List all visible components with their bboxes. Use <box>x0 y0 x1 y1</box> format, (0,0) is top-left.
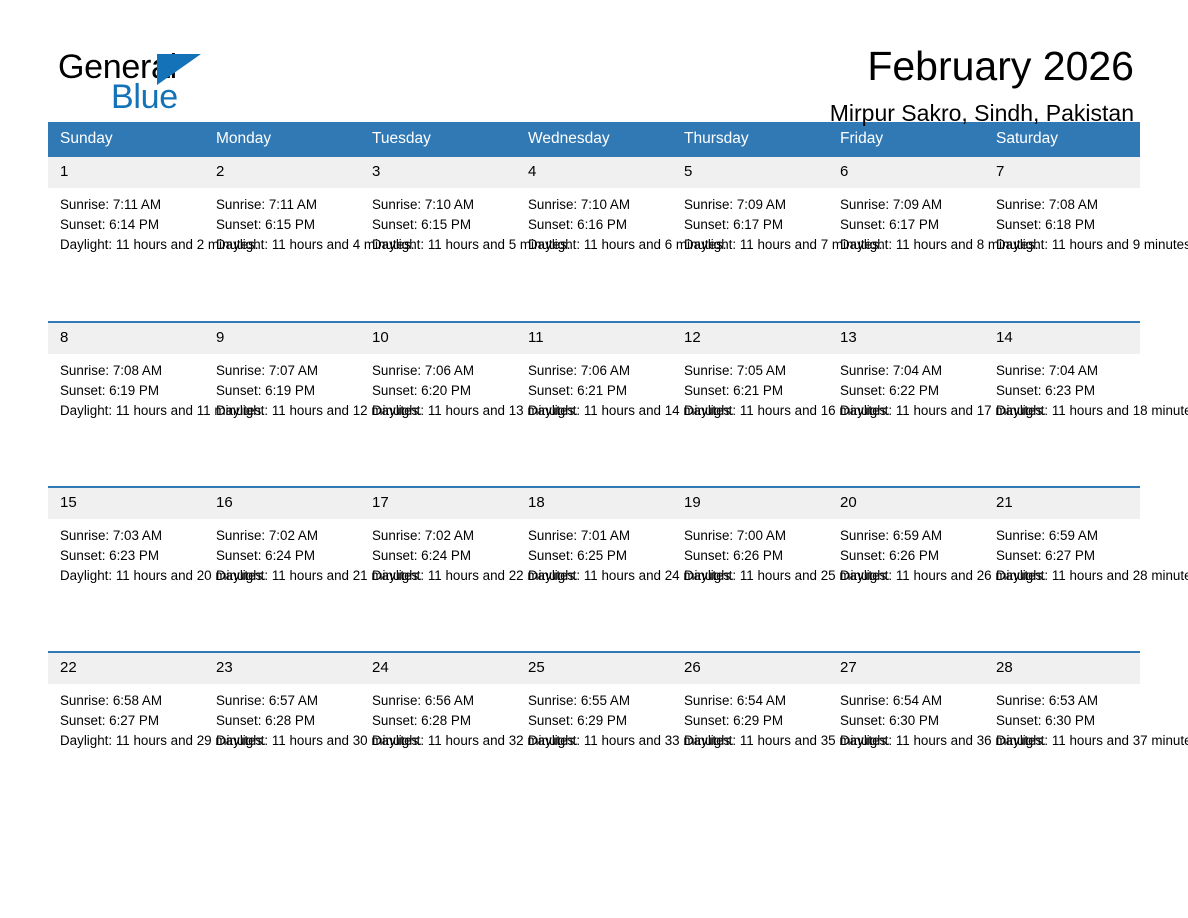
daylight-text: Daylight: 11 hours and 18 minutes. <box>996 401 1130 421</box>
sunrise-text: Sunrise: 7:05 AM <box>684 361 818 381</box>
day-cell[interactable]: 4Sunrise: 7:10 AMSunset: 6:16 PMDaylight… <box>516 157 672 322</box>
sunrise-text: Sunrise: 7:00 AM <box>684 526 818 546</box>
daylight-text: Daylight: 11 hours and 37 minutes. <box>996 731 1130 751</box>
day-number: 13 <box>828 323 984 354</box>
daylight-text: Daylight: 11 hours and 33 minutes. <box>528 731 662 751</box>
day-details: Sunrise: 7:11 AMSunset: 6:14 PMDaylight:… <box>48 188 204 256</box>
generalblue-logo[interactable]: General Blue <box>58 48 258 120</box>
sunrise-text: Sunrise: 7:07 AM <box>216 361 350 381</box>
sunrise-text: Sunrise: 6:58 AM <box>60 691 194 711</box>
day-cell[interactable]: 20Sunrise: 6:59 AMSunset: 6:26 PMDayligh… <box>828 487 984 652</box>
day-number: 18 <box>516 488 672 519</box>
daylight-text: Daylight: 11 hours and 21 minutes. <box>216 566 350 586</box>
sunrise-text: Sunrise: 7:10 AM <box>528 195 662 215</box>
day-details: Sunrise: 7:00 AMSunset: 6:26 PMDaylight:… <box>672 519 828 587</box>
sunset-text: Sunset: 6:27 PM <box>60 711 194 731</box>
daylight-text: Daylight: 11 hours and 22 minutes. <box>372 566 506 586</box>
day-number: 17 <box>360 488 516 519</box>
day-cell[interactable]: 15Sunrise: 7:03 AMSunset: 6:23 PMDayligh… <box>48 487 204 652</box>
sunset-text: Sunset: 6:23 PM <box>60 546 194 566</box>
sunset-text: Sunset: 6:14 PM <box>60 215 194 235</box>
sunset-text: Sunset: 6:16 PM <box>528 215 662 235</box>
sunrise-text: Sunrise: 6:54 AM <box>840 691 974 711</box>
sunset-text: Sunset: 6:15 PM <box>216 215 350 235</box>
sunrise-text: Sunrise: 7:08 AM <box>60 361 194 381</box>
day-cell[interactable]: 9Sunrise: 7:07 AMSunset: 6:19 PMDaylight… <box>204 322 360 487</box>
day-details: Sunrise: 7:04 AMSunset: 6:22 PMDaylight:… <box>828 354 984 422</box>
day-details: Sunrise: 7:01 AMSunset: 6:25 PMDaylight:… <box>516 519 672 587</box>
daylight-text: Daylight: 11 hours and 36 minutes. <box>840 731 974 751</box>
day-number: 14 <box>984 323 1140 354</box>
daylight-text: Daylight: 11 hours and 24 minutes. <box>528 566 662 586</box>
day-number: 8 <box>48 323 204 354</box>
sunset-text: Sunset: 6:30 PM <box>840 711 974 731</box>
daylight-text: Daylight: 11 hours and 29 minutes. <box>60 731 194 751</box>
day-details: Sunrise: 7:02 AMSunset: 6:24 PMDaylight:… <box>360 519 516 587</box>
daylight-text: Daylight: 11 hours and 8 minutes. <box>840 235 974 255</box>
sunrise-text: Sunrise: 7:02 AM <box>216 526 350 546</box>
sunrise-text: Sunrise: 7:08 AM <box>996 195 1130 215</box>
sunrise-text: Sunrise: 7:09 AM <box>840 195 974 215</box>
daylight-text: Daylight: 11 hours and 7 minutes. <box>684 235 818 255</box>
sunset-text: Sunset: 6:23 PM <box>996 381 1130 401</box>
day-cell[interactable]: 27Sunrise: 6:54 AMSunset: 6:30 PMDayligh… <box>828 652 984 817</box>
sunset-text: Sunset: 6:19 PM <box>216 381 350 401</box>
day-details: Sunrise: 6:54 AMSunset: 6:30 PMDaylight:… <box>828 684 984 752</box>
day-cell[interactable]: 24Sunrise: 6:56 AMSunset: 6:28 PMDayligh… <box>360 652 516 817</box>
sunrise-text: Sunrise: 7:01 AM <box>528 526 662 546</box>
calendar-week-row: 22Sunrise: 6:58 AMSunset: 6:27 PMDayligh… <box>48 652 1140 817</box>
sunset-text: Sunset: 6:21 PM <box>684 381 818 401</box>
day-details: Sunrise: 6:58 AMSunset: 6:27 PMDaylight:… <box>48 684 204 752</box>
sunrise-text: Sunrise: 6:53 AM <box>996 691 1130 711</box>
day-details: Sunrise: 6:59 AMSunset: 6:26 PMDaylight:… <box>828 519 984 587</box>
day-cell[interactable]: 13Sunrise: 7:04 AMSunset: 6:22 PMDayligh… <box>828 322 984 487</box>
sunrise-text: Sunrise: 7:11 AM <box>60 195 194 215</box>
daylight-text: Daylight: 11 hours and 14 minutes. <box>528 401 662 421</box>
calendar-week-row: 1Sunrise: 7:11 AMSunset: 6:14 PMDaylight… <box>48 157 1140 322</box>
day-cell[interactable]: 3Sunrise: 7:10 AMSunset: 6:15 PMDaylight… <box>360 157 516 322</box>
daylight-text: Daylight: 11 hours and 2 minutes. <box>60 235 194 255</box>
day-details: Sunrise: 7:02 AMSunset: 6:24 PMDaylight:… <box>204 519 360 587</box>
calendar-page: General Blue February 2026 Mirpur Sakro,… <box>0 0 1188 918</box>
daylight-text: Daylight: 11 hours and 6 minutes. <box>528 235 662 255</box>
day-number: 20 <box>828 488 984 519</box>
day-details: Sunrise: 7:05 AMSunset: 6:21 PMDaylight:… <box>672 354 828 422</box>
daylight-text: Daylight: 11 hours and 32 minutes. <box>372 731 506 751</box>
day-details: Sunrise: 6:56 AMSunset: 6:28 PMDaylight:… <box>360 684 516 752</box>
day-number: 25 <box>516 653 672 684</box>
day-details: Sunrise: 7:06 AMSunset: 6:21 PMDaylight:… <box>516 354 672 422</box>
day-number: 1 <box>48 157 204 188</box>
day-details: Sunrise: 6:54 AMSunset: 6:29 PMDaylight:… <box>672 684 828 752</box>
day-number: 27 <box>828 653 984 684</box>
day-details: Sunrise: 6:57 AMSunset: 6:28 PMDaylight:… <box>204 684 360 752</box>
sunset-text: Sunset: 6:28 PM <box>216 711 350 731</box>
day-cell[interactable]: 8Sunrise: 7:08 AMSunset: 6:19 PMDaylight… <box>48 322 204 487</box>
day-number: 26 <box>672 653 828 684</box>
day-details: Sunrise: 7:03 AMSunset: 6:23 PMDaylight:… <box>48 519 204 587</box>
sunset-text: Sunset: 6:18 PM <box>996 215 1130 235</box>
calendar-table: Sunday Monday Tuesday Wednesday Thursday… <box>48 122 1140 817</box>
daylight-text: Daylight: 11 hours and 12 minutes. <box>216 401 350 421</box>
sunset-text: Sunset: 6:15 PM <box>372 215 506 235</box>
daylight-text: Daylight: 11 hours and 28 minutes. <box>996 566 1130 586</box>
sunrise-text: Sunrise: 7:09 AM <box>684 195 818 215</box>
day-cell[interactable]: 7Sunrise: 7:08 AMSunset: 6:18 PMDaylight… <box>984 157 1140 322</box>
sunrise-text: Sunrise: 7:11 AM <box>216 195 350 215</box>
day-details: Sunrise: 7:08 AMSunset: 6:18 PMDaylight:… <box>984 188 1140 256</box>
daylight-text: Daylight: 11 hours and 20 minutes. <box>60 566 194 586</box>
day-details: Sunrise: 7:04 AMSunset: 6:23 PMDaylight:… <box>984 354 1140 422</box>
day-details: Sunrise: 7:10 AMSunset: 6:15 PMDaylight:… <box>360 188 516 256</box>
daylight-text: Daylight: 11 hours and 30 minutes. <box>216 731 350 751</box>
day-cell[interactable]: 14Sunrise: 7:04 AMSunset: 6:23 PMDayligh… <box>984 322 1140 487</box>
sunrise-text: Sunrise: 6:59 AM <box>840 526 974 546</box>
sunrise-text: Sunrise: 7:10 AM <box>372 195 506 215</box>
day-cell[interactable]: 25Sunrise: 6:55 AMSunset: 6:29 PMDayligh… <box>516 652 672 817</box>
daylight-text: Daylight: 11 hours and 16 minutes. <box>684 401 818 421</box>
daylight-text: Daylight: 11 hours and 13 minutes. <box>372 401 506 421</box>
sunrise-text: Sunrise: 7:03 AM <box>60 526 194 546</box>
day-number: 12 <box>672 323 828 354</box>
day-number: 3 <box>360 157 516 188</box>
day-cell[interactable]: 19Sunrise: 7:00 AMSunset: 6:26 PMDayligh… <box>672 487 828 652</box>
day-number: 9 <box>204 323 360 354</box>
day-number: 2 <box>204 157 360 188</box>
day-details: Sunrise: 7:07 AMSunset: 6:19 PMDaylight:… <box>204 354 360 422</box>
sunrise-text: Sunrise: 7:04 AM <box>840 361 974 381</box>
sunrise-text: Sunrise: 7:06 AM <box>372 361 506 381</box>
day-details: Sunrise: 7:06 AMSunset: 6:20 PMDaylight:… <box>360 354 516 422</box>
day-number: 15 <box>48 488 204 519</box>
day-cell[interactable]: 22Sunrise: 6:58 AMSunset: 6:27 PMDayligh… <box>48 652 204 817</box>
daylight-text: Daylight: 11 hours and 17 minutes. <box>840 401 974 421</box>
daylight-text: Daylight: 11 hours and 25 minutes. <box>684 566 818 586</box>
sunset-text: Sunset: 6:22 PM <box>840 381 974 401</box>
day-details: Sunrise: 7:11 AMSunset: 6:15 PMDaylight:… <box>204 188 360 256</box>
sunset-text: Sunset: 6:24 PM <box>372 546 506 566</box>
sunset-text: Sunset: 6:20 PM <box>372 381 506 401</box>
day-number: 5 <box>672 157 828 188</box>
sunrise-text: Sunrise: 6:57 AM <box>216 691 350 711</box>
day-number: 16 <box>204 488 360 519</box>
page-header: General Blue February 2026 Mirpur Sakro,… <box>48 0 1140 112</box>
day-number: 6 <box>828 157 984 188</box>
day-details: Sunrise: 7:09 AMSunset: 6:17 PMDaylight:… <box>828 188 984 256</box>
day-number: 23 <box>204 653 360 684</box>
day-details: Sunrise: 7:09 AMSunset: 6:17 PMDaylight:… <box>672 188 828 256</box>
day-number: 7 <box>984 157 1140 188</box>
day-number: 22 <box>48 653 204 684</box>
sunset-text: Sunset: 6:27 PM <box>996 546 1130 566</box>
day-details: Sunrise: 6:55 AMSunset: 6:29 PMDaylight:… <box>516 684 672 752</box>
sunset-text: Sunset: 6:26 PM <box>840 546 974 566</box>
sunset-text: Sunset: 6:25 PM <box>528 546 662 566</box>
day-cell[interactable]: 21Sunrise: 6:59 AMSunset: 6:27 PMDayligh… <box>984 487 1140 652</box>
day-number: 21 <box>984 488 1140 519</box>
day-cell[interactable]: 2Sunrise: 7:11 AMSunset: 6:15 PMDaylight… <box>204 157 360 322</box>
daylight-text: Daylight: 11 hours and 26 minutes. <box>840 566 974 586</box>
daylight-text: Daylight: 11 hours and 9 minutes. <box>996 235 1130 255</box>
calendar-week-row: 8Sunrise: 7:08 AMSunset: 6:19 PMDaylight… <box>48 322 1140 487</box>
day-cell[interactable]: 12Sunrise: 7:05 AMSunset: 6:21 PMDayligh… <box>672 322 828 487</box>
day-cell[interactable]: 16Sunrise: 7:02 AMSunset: 6:24 PMDayligh… <box>204 487 360 652</box>
daylight-text: Daylight: 11 hours and 5 minutes. <box>372 235 506 255</box>
daylight-text: Daylight: 11 hours and 35 minutes. <box>684 731 818 751</box>
sunset-text: Sunset: 6:19 PM <box>60 381 194 401</box>
sunrise-text: Sunrise: 6:56 AM <box>372 691 506 711</box>
calendar-body: 1Sunrise: 7:11 AMSunset: 6:14 PMDaylight… <box>48 157 1140 817</box>
day-cell[interactable]: 1Sunrise: 7:11 AMSunset: 6:14 PMDaylight… <box>48 157 204 322</box>
day-cell[interactable]: 18Sunrise: 7:01 AMSunset: 6:25 PMDayligh… <box>516 487 672 652</box>
day-cell[interactable]: 28Sunrise: 6:53 AMSunset: 6:30 PMDayligh… <box>984 652 1140 817</box>
sunset-text: Sunset: 6:24 PM <box>216 546 350 566</box>
day-number: 10 <box>360 323 516 354</box>
day-number: 11 <box>516 323 672 354</box>
day-number: 19 <box>672 488 828 519</box>
sunset-text: Sunset: 6:29 PM <box>684 711 818 731</box>
day-details: Sunrise: 7:08 AMSunset: 6:19 PMDaylight:… <box>48 354 204 422</box>
day-cell[interactable]: 17Sunrise: 7:02 AMSunset: 6:24 PMDayligh… <box>360 487 516 652</box>
sunrise-text: Sunrise: 7:02 AM <box>372 526 506 546</box>
day-details: Sunrise: 7:10 AMSunset: 6:16 PMDaylight:… <box>516 188 672 256</box>
sunset-text: Sunset: 6:29 PM <box>528 711 662 731</box>
daylight-text: Daylight: 11 hours and 4 minutes. <box>216 235 350 255</box>
sunset-text: Sunset: 6:30 PM <box>996 711 1130 731</box>
day-cell[interactable]: 10Sunrise: 7:06 AMSunset: 6:20 PMDayligh… <box>360 322 516 487</box>
day-number: 24 <box>360 653 516 684</box>
day-cell[interactable]: 5Sunrise: 7:09 AMSunset: 6:17 PMDaylight… <box>672 157 828 322</box>
calendar-week-row: 15Sunrise: 7:03 AMSunset: 6:23 PMDayligh… <box>48 487 1140 652</box>
day-cell[interactable]: 11Sunrise: 7:06 AMSunset: 6:21 PMDayligh… <box>516 322 672 487</box>
sunrise-text: Sunrise: 7:06 AM <box>528 361 662 381</box>
sunrise-text: Sunrise: 6:59 AM <box>996 526 1130 546</box>
sunrise-text: Sunrise: 6:54 AM <box>684 691 818 711</box>
sunset-text: Sunset: 6:21 PM <box>528 381 662 401</box>
daylight-text: Daylight: 11 hours and 11 minutes. <box>60 401 194 421</box>
sunset-text: Sunset: 6:28 PM <box>372 711 506 731</box>
day-cell[interactable]: 26Sunrise: 6:54 AMSunset: 6:29 PMDayligh… <box>672 652 828 817</box>
day-number: 4 <box>516 157 672 188</box>
sunset-text: Sunset: 6:17 PM <box>684 215 818 235</box>
sunrise-text: Sunrise: 6:55 AM <box>528 691 662 711</box>
sunset-text: Sunset: 6:26 PM <box>684 546 818 566</box>
day-cell[interactable]: 23Sunrise: 6:57 AMSunset: 6:28 PMDayligh… <box>204 652 360 817</box>
day-cell[interactable]: 6Sunrise: 7:09 AMSunset: 6:17 PMDaylight… <box>828 157 984 322</box>
day-details: Sunrise: 6:59 AMSunset: 6:27 PMDaylight:… <box>984 519 1140 587</box>
logo-text-blue: Blue <box>111 78 178 117</box>
day-number: 28 <box>984 653 1140 684</box>
sunset-text: Sunset: 6:17 PM <box>840 215 974 235</box>
sunrise-text: Sunrise: 7:04 AM <box>996 361 1130 381</box>
day-details: Sunrise: 6:53 AMSunset: 6:30 PMDaylight:… <box>984 684 1140 752</box>
